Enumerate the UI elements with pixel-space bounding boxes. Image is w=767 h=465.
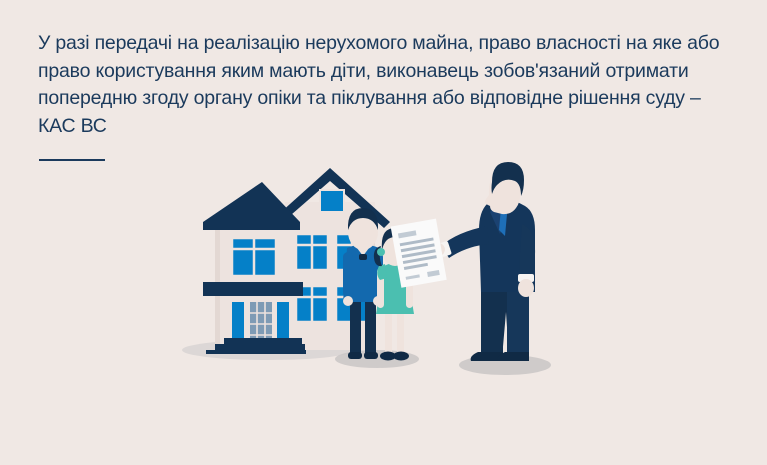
man-shoe-back: [498, 352, 529, 361]
girl-hair-tie-left: [377, 248, 385, 256]
boy-shoe-right: [364, 352, 378, 359]
family-house-executor-illustration: [0, 160, 767, 390]
girl-leg-left: [385, 312, 392, 356]
house-porch-canopy: [203, 282, 303, 296]
house-window-wing-upper: [232, 238, 276, 276]
boy-shoe-left: [348, 352, 362, 359]
house-step-upper: [224, 338, 302, 344]
boy-hand-left: [343, 296, 353, 306]
man-leg-front: [481, 288, 503, 358]
girl-leg-right: [397, 312, 404, 356]
house-attic-window: [320, 190, 344, 212]
page-title: У разі передачі на реалізацію нерухомого…: [38, 30, 738, 140]
house-step-middle: [215, 344, 305, 350]
house-window-upper-left: [296, 234, 328, 270]
infographic-card: У разі передачі на реалізацію нерухомого…: [0, 0, 767, 465]
boy-arm-left: [343, 252, 353, 298]
boy-leg-right: [365, 298, 376, 356]
house-step-lower: [206, 350, 306, 354]
house-left-wing-roof-eave: [203, 222, 300, 230]
man-hand-resting: [518, 279, 534, 297]
illustration-container: [0, 160, 767, 390]
man-leg-back: [507, 288, 529, 358]
boy-leg-left: [350, 298, 361, 356]
boy-bowtie: [359, 254, 367, 260]
girl-shoe-right: [393, 352, 409, 361]
